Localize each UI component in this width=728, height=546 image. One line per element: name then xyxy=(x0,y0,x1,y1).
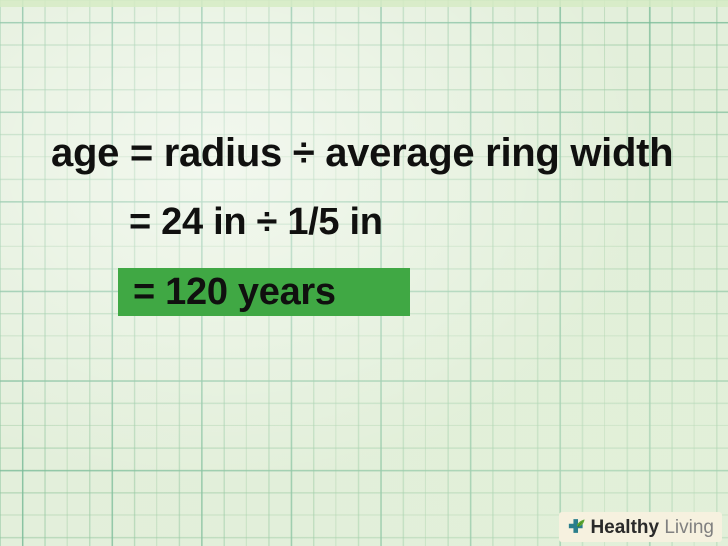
equation-line-substitution: = 24 in ÷ 1/5 in xyxy=(129,201,383,244)
illustration-canvas: age = radius ÷ average ring width = 24 i… xyxy=(0,0,728,546)
watermark-brand: Healthy Living xyxy=(590,518,714,537)
equation-line-formula: age = radius ÷ average ring width xyxy=(51,131,673,176)
watermark-brand-bold: Healthy xyxy=(590,517,659,538)
medical-cross-leaf-icon xyxy=(565,516,587,538)
watermark: Healthy Living xyxy=(559,512,722,542)
top-edge-strip xyxy=(0,0,728,7)
equation-line-result: = 120 years xyxy=(133,271,336,314)
watermark-brand-light: Living xyxy=(659,517,714,538)
